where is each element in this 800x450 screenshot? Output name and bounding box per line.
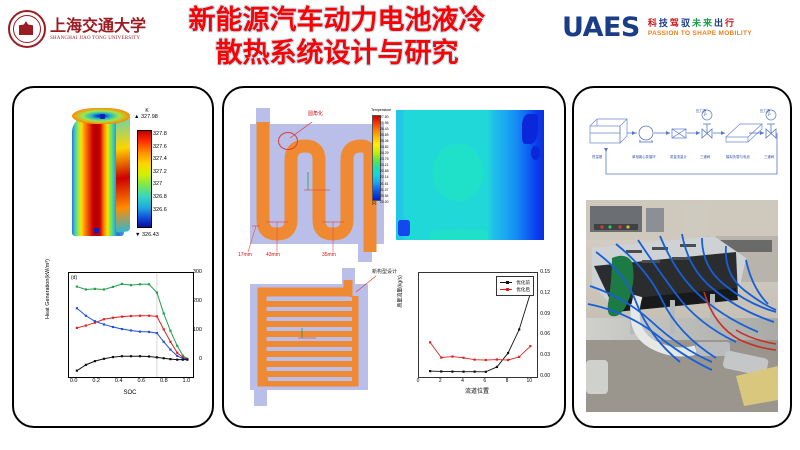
colorbar-tick-labels: 327.8327.6327.4327.2327326.8326.6 xyxy=(153,128,193,228)
soc-chart-x-label: SOC xyxy=(68,390,192,396)
contour-blob-warm-bottom xyxy=(430,229,488,240)
flow-x-tick: 0 xyxy=(417,378,420,384)
colorbar-max-value: ▲ 327.98 xyxy=(134,114,192,120)
flow-x-tick: 8 xyxy=(506,378,509,384)
temperature-map-legend: Temperature 27.5026.9626.4325.8925.3624.… xyxy=(371,108,397,112)
pressure-gauge-symbol-1: P xyxy=(704,112,707,117)
university-name-cn: 上海交通大学 xyxy=(50,17,146,35)
panel-test-bench: 压力表 压力表 P P 恒温槽 单相离心泵循环 质量流量计 三通阀 模拟负载与电… xyxy=(572,86,792,428)
test-bench-photo-illustration xyxy=(586,200,778,412)
uaes-slogan-en: PASSION TO SHAPE MOBILITY xyxy=(648,30,752,38)
new-configuration-coldplate-figure: 新构型设计 xyxy=(242,266,392,416)
slide-root: 上海交通大学 SHANGHAI JIAO TONG UNIVERSITY 新能源… xyxy=(0,0,800,450)
colorbar-tick: 326.6 xyxy=(153,204,193,217)
legend-marker-after-icon xyxy=(506,288,509,291)
schematic-node-label-3: 三通阀 xyxy=(700,154,710,159)
temperature-legend-tick: 20.00 xyxy=(380,199,389,205)
uaes-logo: UAES 科技驾驭未来出行 PASSION TO SHAPE MOBILITY xyxy=(562,8,752,48)
soc-y-tick: 300 xyxy=(166,269,202,275)
temperature-legend-values: 27.5026.9626.4325.8925.3624.8224.2923.75… xyxy=(380,114,389,205)
temperature-legend-tick: 21.07 xyxy=(380,187,389,193)
flow-chart-plot-area: 优化前 优化后 xyxy=(418,272,538,378)
soc-x-tick: 0.8 xyxy=(160,378,168,384)
university-name-en: SHANGHAI JIAO TONG UNIVERSITY xyxy=(50,35,146,42)
temperature-legend-title: Temperature xyxy=(371,108,397,112)
heat-generation-soc-chart: (d) 0100200300 0.00.20.40.60.81.0 Heat G… xyxy=(28,264,204,410)
new-coldplate-channel-path xyxy=(242,266,392,416)
battery-hotspot-marker-bottom xyxy=(94,228,99,233)
uaes-slogan-char: 行 xyxy=(725,18,736,28)
uaes-slogan-char: 出 xyxy=(714,18,725,28)
dimension-label-17mm: 17mm xyxy=(238,252,252,258)
uaes-slogan-char: 科 xyxy=(648,18,659,28)
test-bench-schematic: 压力表 压力表 P P 恒温槽 单相离心泵循环 质量流量计 三通阀 模拟负载与电… xyxy=(584,102,778,194)
uaes-slogan-char: 未 xyxy=(692,18,703,28)
soc-y-tick: 200 xyxy=(166,298,202,304)
temperature-legend-tick: 21.61 xyxy=(380,181,389,187)
soc-x-tick: 0.6 xyxy=(137,378,145,384)
colorbar-tick: 327.8 xyxy=(153,128,193,141)
uaes-slogan-cn: 科技驾驭未来出行 xyxy=(648,18,752,29)
colorbar-gradient-strip xyxy=(137,130,152,228)
flow-x-tick: 2 xyxy=(439,378,442,384)
colorbar-max-marker-icon: ▲ xyxy=(134,114,139,120)
flow-x-tick: 10 xyxy=(527,378,533,384)
flow-x-tick: 4 xyxy=(461,378,464,384)
colorbar-max-label: 327.98 xyxy=(141,114,158,120)
flow-distribution-chart: 优化前 优化后 0.000.030.060.090.120.15 0246810… xyxy=(376,264,552,414)
battery-thermal-contour-figure: K ▲ 327.98 327.8327.6327.4327.2327326.83… xyxy=(34,102,194,252)
colorbar-min-label: 326.43 xyxy=(142,232,159,238)
dimension-label-43mm: 43mm xyxy=(266,252,280,258)
soc-x-tick: 1.0 xyxy=(183,378,191,384)
uaes-wordmark: UAES xyxy=(562,13,640,43)
page-title: 新能源汽车动力电池液冷 散热系统设计与研究 xyxy=(138,4,536,70)
contour-blob-cold-right-mid xyxy=(531,146,540,160)
battery-colorbar: K ▲ 327.98 327.8327.6327.4327.2327326.83… xyxy=(134,108,192,248)
flow-y-tick: 0.12 xyxy=(512,290,550,296)
contour-blob-cold-right-top xyxy=(522,114,538,144)
uaes-slogan-char: 驭 xyxy=(681,18,692,28)
flow-y-tick: 0.06 xyxy=(512,331,550,337)
slide-header: 上海交通大学 SHANGHAI JIAO TONG UNIVERSITY 新能源… xyxy=(0,0,800,82)
schematic-node-label-4: 模拟负载与电池 xyxy=(726,154,750,159)
test-bench-photo xyxy=(586,200,778,412)
sjtu-logo: 上海交通大学 SHANGHAI JIAO TONG UNIVERSITY xyxy=(8,8,130,50)
soc-y-tick: 100 xyxy=(166,327,202,333)
legend-marker-before-icon xyxy=(506,281,509,284)
page-title-line2: 散热系统设计与研究 xyxy=(138,37,536,70)
pressure-gauge-symbol-2: P xyxy=(768,112,771,117)
soc-chart-y-label: Heat Generation(kW/m³) xyxy=(45,241,51,337)
panel-coldplate-design: 圆角化 17mm 43mm 35mm xyxy=(222,86,566,428)
colorbar-tick: 327.2 xyxy=(153,166,193,179)
soc-chart-plot-area: (d) xyxy=(68,272,194,378)
legend-item-before: 优化前 xyxy=(500,279,530,286)
soc-chart-tag: (d) xyxy=(71,275,77,281)
colorbar-tick: 327.6 xyxy=(153,141,193,154)
panel-battery-thermal: K ▲ 327.98 327.8327.6327.4327.2327326.83… xyxy=(12,86,214,428)
flow-y-tick: 0.03 xyxy=(512,352,550,358)
legend-label-before: 优化前 xyxy=(516,279,530,286)
flow-x-tick: 6 xyxy=(483,378,486,384)
schematic-node-label-5: 三通阀 xyxy=(764,154,774,159)
colorbar-tick: 327 xyxy=(153,178,193,191)
uaes-slogan-char: 技 xyxy=(659,18,670,28)
sjtu-seal-icon xyxy=(8,10,46,48)
soc-y-tick: 0 xyxy=(166,356,202,362)
battery-hotspot-marker-top xyxy=(100,114,105,119)
soc-x-tick: 0.0 xyxy=(70,378,78,384)
temperature-legend-tick: 20.54 xyxy=(380,193,389,199)
flow-y-tick: 0.15 xyxy=(512,269,550,275)
contour-blob-cold-left-bottom xyxy=(398,220,410,236)
page-title-line1: 新能源汽车动力电池液冷 xyxy=(138,4,536,37)
temperature-contour-map-figure: Temperature 27.5026.9626.4325.8925.3624.… xyxy=(370,104,548,252)
dimension-label-35mm: 35mm xyxy=(322,252,336,258)
schematic-node-label-0: 恒温槽 xyxy=(592,154,602,159)
uaes-slogan-char: 驾 xyxy=(670,18,681,28)
colorbar-min-value: ▼ 326.43 xyxy=(135,232,159,238)
soc-x-tick: 0.2 xyxy=(92,378,100,384)
temperature-legend-unit: [C] xyxy=(372,201,376,205)
colorbar-tick: 326.8 xyxy=(153,191,193,204)
battery-cell-side-face xyxy=(116,111,130,233)
temperature-legend-tick: 22.14 xyxy=(380,174,389,180)
flow-chart-x-label: 流道位置 xyxy=(418,386,536,395)
uaes-slogan-char: 来 xyxy=(703,18,714,28)
schematic-node-label-2: 质量流量计 xyxy=(670,154,687,159)
flow-chart-y-label: 质量流量(kg/s) xyxy=(397,244,404,340)
soc-x-tick: 0.4 xyxy=(115,378,123,384)
colorbar-min-marker-icon: ▼ xyxy=(135,232,140,238)
schematic-diagram-svg xyxy=(584,102,778,194)
colorbar-tick: 327.4 xyxy=(153,153,193,166)
temperature-contour-map xyxy=(396,110,544,240)
schematic-node-label-1: 单相离心泵循环 xyxy=(632,154,656,159)
flow-y-tick: 0.09 xyxy=(512,311,550,317)
